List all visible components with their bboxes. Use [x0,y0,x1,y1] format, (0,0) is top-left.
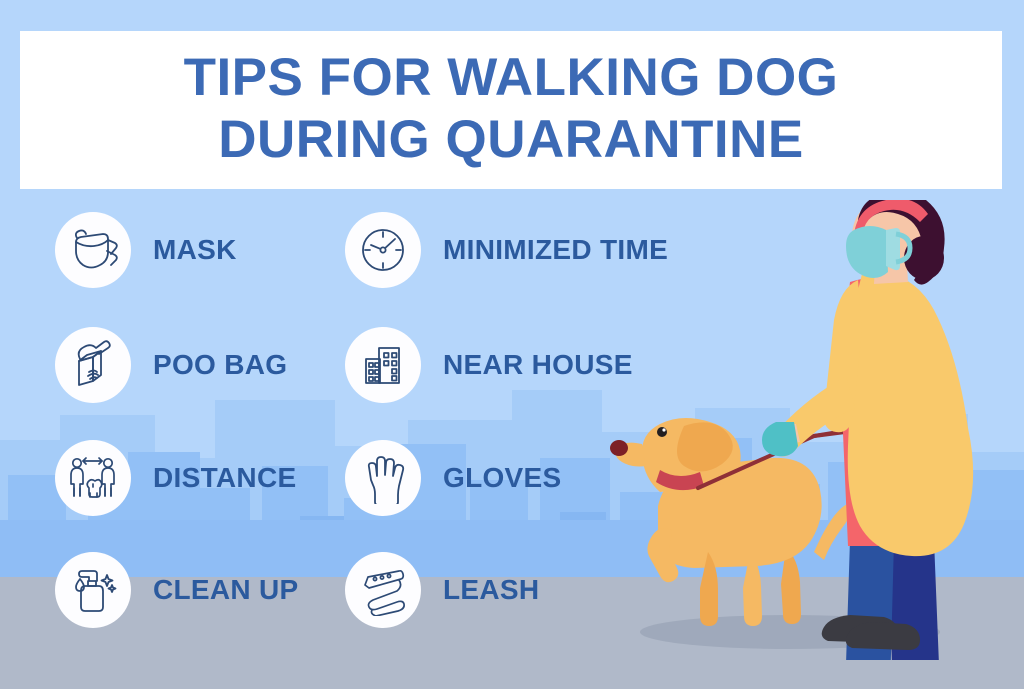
page-title: TIPS FOR WALKING DOG DURING QUARANTINE [20,31,1002,171]
tip-item-gloves[interactable]: GLOVES [345,440,562,516]
tips-list: MASK MINIMIZED TIME [55,212,755,672]
tip-item-distance[interactable]: DISTANCE [55,440,296,516]
buildings-icon [357,339,409,391]
tip-icon-bubble [55,327,131,403]
tip-label: DISTANCE [153,462,296,494]
poop-scoop-bag-icon [67,339,119,391]
tip-item-poo-bag[interactable]: POO BAG [55,327,287,403]
title-banner: TIPS FOR WALKING DOG DURING QUARANTINE [20,31,1002,189]
tip-label: MASK [153,234,237,266]
tip-item-near-house[interactable]: NEAR HOUSE [345,327,633,403]
tip-label: LEASH [443,574,539,606]
clock-icon [357,224,409,276]
tip-icon-bubble [345,552,421,628]
social-distance-icon [66,452,120,504]
tip-item-clean-up[interactable]: CLEAN UP [55,552,299,628]
tip-item-leash[interactable]: LEASH [345,552,539,628]
tip-icon-bubble [55,552,131,628]
tip-label: POO BAG [153,349,287,381]
glove-icon [357,452,409,504]
tip-label: MINIMIZED TIME [443,234,668,266]
infographic-poster: TIPS FOR WALKING DOG DURING QUARANTINE M… [0,0,1024,689]
collar-leash-icon [357,564,409,616]
title-line-2: DURING QUARANTINE [20,109,1002,171]
tip-label: CLEAN UP [153,574,299,606]
tip-icon-bubble [345,440,421,516]
sanitizer-bottle-icon [67,564,119,616]
title-line-1: TIPS FOR WALKING DOG [20,47,1002,109]
tip-icon-bubble [55,440,131,516]
tip-label: GLOVES [443,462,562,494]
tip-icon-bubble [55,212,131,288]
tip-item-mask[interactable]: MASK [55,212,237,288]
tip-icon-bubble [345,212,421,288]
tip-item-minimized-time[interactable]: MINIMIZED TIME [345,212,668,288]
face-mask-icon [67,224,119,276]
tip-label: NEAR HOUSE [443,349,633,381]
tip-icon-bubble [345,327,421,403]
